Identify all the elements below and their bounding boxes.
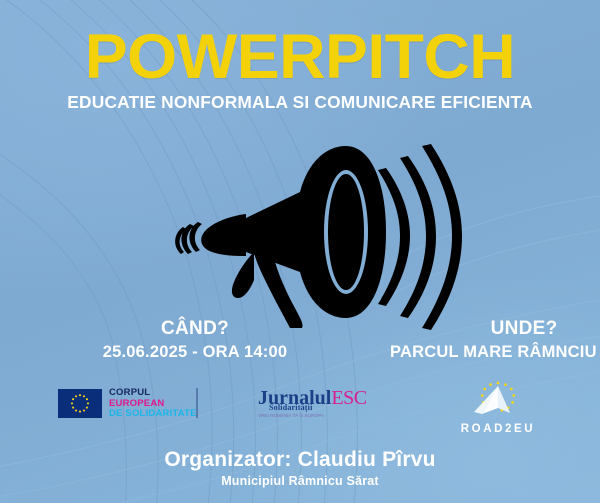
when-label: CÂND? xyxy=(0,318,390,340)
footer-block: Organizator: Claudiu Pîrvu Municipiul Râ… xyxy=(0,448,600,489)
where-label: UNDE? xyxy=(390,318,600,340)
sponsor-logo-strip: CORPUL EUROPEAN DE SOLIDARITATE Jurnalul… xyxy=(0,376,600,438)
headline-block: POWERPITCH EDUCATIE NONFORMALA SI COMUNI… xyxy=(0,28,600,113)
page-title: POWERPITCH xyxy=(0,28,600,88)
road2eu-label: ROAD2EU xyxy=(452,423,544,435)
megaphone-icon xyxy=(150,140,470,330)
where-value: PARCUL MARE RÂMNCIU SĂRAT xyxy=(390,343,600,362)
detail-where: UNDE? PARCUL MARE RÂMNCIU SĂRAT xyxy=(390,318,600,362)
jurnal-word-accent: ESC xyxy=(331,387,366,409)
esc-line-3: DE SOLIDARITATE xyxy=(109,409,197,420)
logo-road2eu: ROAD2EU xyxy=(452,378,544,435)
organizer-text: Organizator: Claudiu Pîrvu xyxy=(0,448,600,472)
when-value: 25.06.2025 - ORA 14:00 xyxy=(0,343,390,362)
esc-wordmark: CORPUL EUROPEAN DE SOLIDARITATE xyxy=(109,388,197,420)
logo-corpul-european-de-solidaritate: CORPUL EUROPEAN DE SOLIDARITATE xyxy=(58,388,197,420)
detail-when: CÂND? 25.06.2025 - ORA 14:00 xyxy=(0,318,390,362)
paper-plane-eu-stars-icon xyxy=(452,378,544,424)
page-subtitle: EDUCATIE NONFORMALA SI COMUNICARE EFICIE… xyxy=(3,92,597,113)
logo-divider xyxy=(196,388,198,418)
locality-text: Municipiul Râmnicu Sărat xyxy=(0,474,600,488)
jurnal-tagline: VREI ROMÂNIA TA În EUROPA xyxy=(258,413,367,418)
event-details: CÂND? 25.06.2025 - ORA 14:00 UNDE? PARCU… xyxy=(0,318,600,362)
poster-canvas: POWERPITCH EDUCATIE NONFORMALA SI COMUNI… xyxy=(0,0,600,503)
logo-jurnalul-esc: JurnalulESC Solidarității VREI ROMÂNIA T… xyxy=(258,388,367,418)
eu-flag-icon xyxy=(58,389,102,418)
